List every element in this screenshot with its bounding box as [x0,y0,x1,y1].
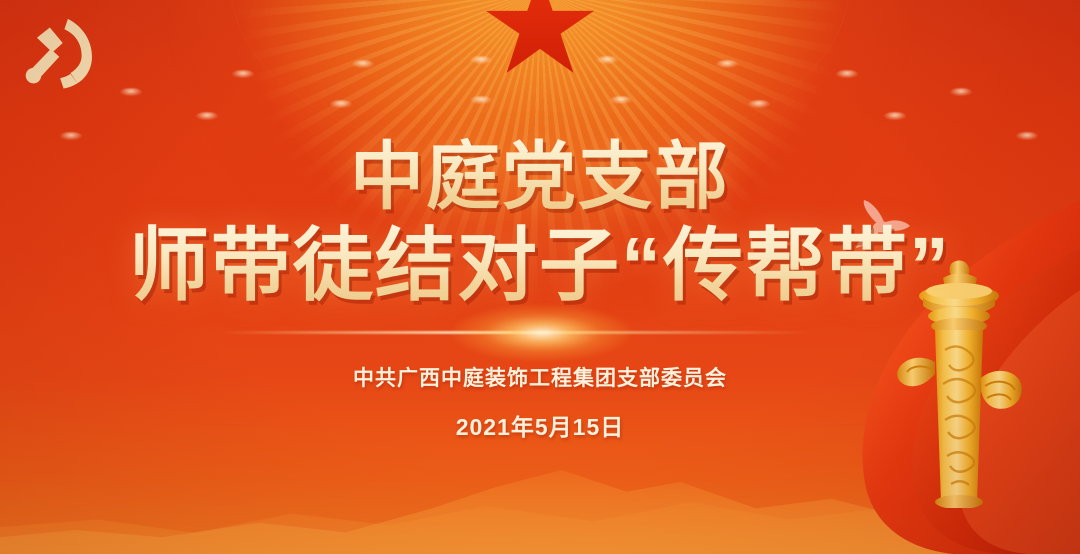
ceiling-light-14 [748,100,770,108]
light-flare-core [452,305,632,361]
ceiling-light-11 [330,100,352,108]
title-line-2: 师带徒结对子“传帮带” [0,224,1080,309]
title-line-1: 中庭党支部 [0,138,1080,216]
ceiling-light-4 [470,56,492,64]
ceiling-light-6 [716,60,738,68]
ceiling-light-7 [836,70,858,78]
ceiling-light-5 [596,56,618,64]
hammer-and-sickle-icon [18,12,104,98]
organization-name: 中共广西中庭装饰工程集团支部委员会 [0,362,1080,392]
poster-subtitle-block: 中共广西中庭装饰工程集团支部委员会 2021年5月15日 [0,362,1080,442]
ceiling-light-3 [352,60,374,68]
ceiling-light-8 [950,88,972,96]
ceiling-light-2 [232,70,254,78]
event-date: 2021年5月15日 [0,408,1080,442]
ceiling-light-13 [610,96,632,104]
poster-title: 中庭党支部 师带徒结对子“传帮带” [0,138,1080,309]
ceiling-light-15 [884,112,906,120]
ceiling-light-1 [120,88,142,96]
ceiling-light-12 [470,96,492,104]
party-event-poster: 中庭党支部 师带徒结对子“传帮带” 中共广西中庭装饰工程集团支部委员会 2021… [0,0,1080,554]
ceiling-light-10 [196,112,218,120]
